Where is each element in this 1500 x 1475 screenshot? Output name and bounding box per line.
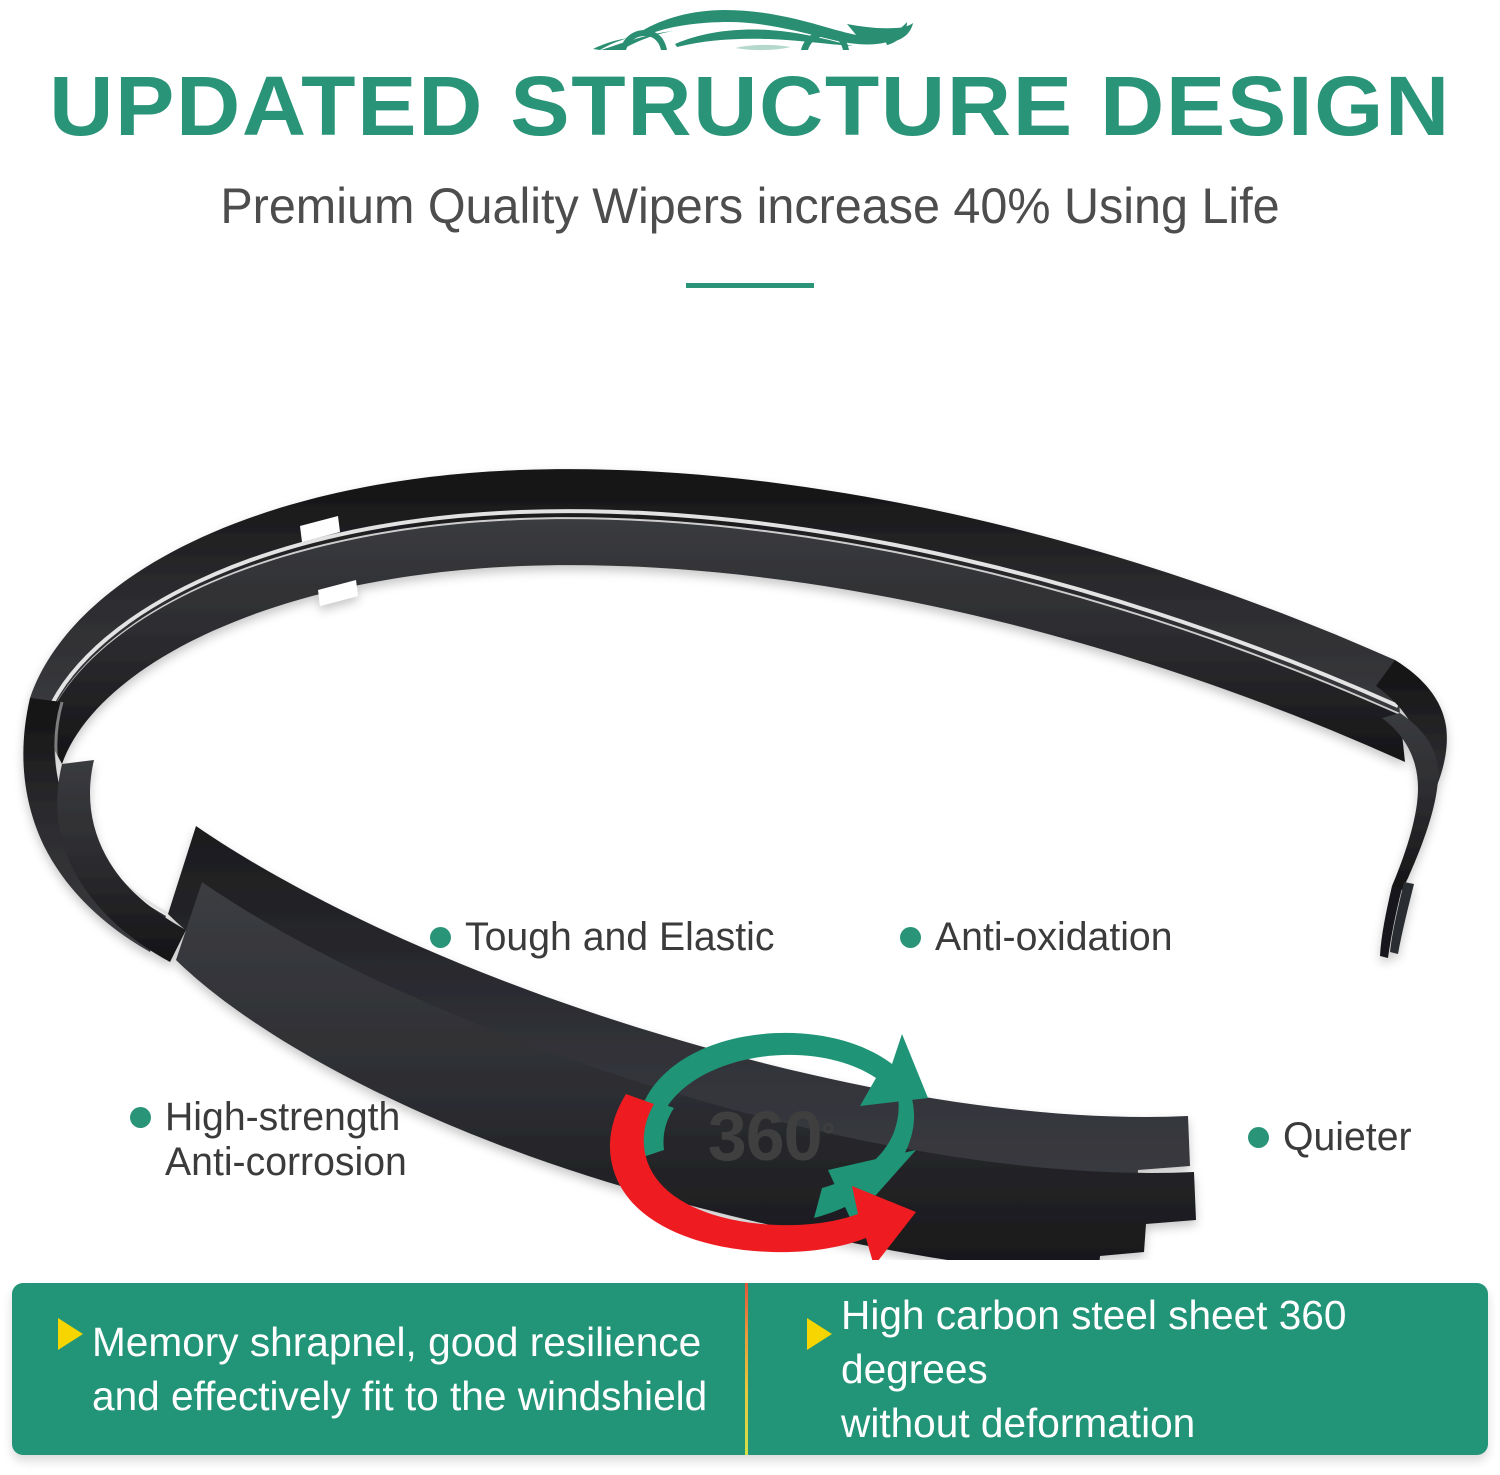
feature-label: High-strength Anti-corrosion (165, 1095, 407, 1185)
banner-item-memory-shrapnel: Memory shrapnel, good resilience and eff… (12, 1283, 745, 1455)
bullet-dot-icon (900, 927, 921, 948)
badge-360-degree: 360° (576, 1020, 956, 1260)
banner-item-high-carbon-steel: High carbon steel sheet 360 degrees with… (745, 1283, 1488, 1455)
play-triangle-icon (58, 1318, 83, 1350)
feature-label: Quieter (1283, 1115, 1412, 1160)
car-silhouette-logo (585, 2, 915, 64)
feature-label: Tough and Elastic (465, 915, 774, 960)
feature-callout-anti-oxidation: Anti-oxidation (900, 915, 1177, 960)
feature-label: Anti-oxidation (935, 915, 1173, 960)
play-triangle-icon (807, 1318, 832, 1350)
bullet-dot-icon (130, 1107, 151, 1128)
feature-callout-quieter: Quieter (1248, 1115, 1414, 1160)
page-title: UPDATED STRUCTURE DESIGN (0, 60, 1500, 152)
feature-callout-tough-and-elastic: Tough and Elastic (430, 915, 781, 960)
feature-callout-high-strength-anti-corrosion: High-strength Anti-corrosion (130, 1095, 412, 1185)
bottom-feature-banner: Memory shrapnel, good resilience and eff… (12, 1283, 1488, 1455)
banner-item-text: High carbon steel sheet 360 degrees with… (841, 1288, 1482, 1450)
bullet-dot-icon (1248, 1127, 1269, 1148)
bullet-dot-icon (430, 927, 451, 948)
green-rotation-arrow (633, 1033, 929, 1222)
banner-item-text: Memory shrapnel, good resilience and eff… (92, 1315, 707, 1423)
title-divider (686, 283, 814, 288)
product-hero: Tough and Elastic Anti-oxidation High-st… (0, 330, 1500, 1260)
page-subtitle: Premium Quality Wipers increase 40% Usin… (23, 176, 1478, 236)
